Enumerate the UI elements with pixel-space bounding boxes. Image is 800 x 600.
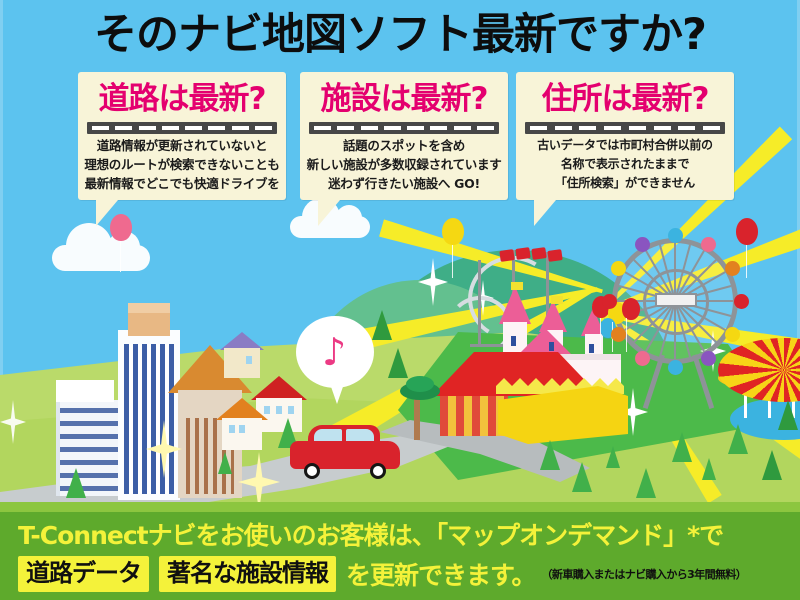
ferris-wheel-cabin xyxy=(668,360,683,375)
balloon-string xyxy=(626,318,627,352)
ferris-wheel-cabin xyxy=(611,327,626,342)
tree xyxy=(778,400,798,430)
music-speech-bubble-tail xyxy=(328,378,346,404)
tree xyxy=(762,450,782,480)
card-body-line: 迷わず行きたい施設へ GO! xyxy=(304,174,504,193)
tree xyxy=(218,452,232,474)
balloon-string xyxy=(452,242,453,278)
card-body-line: 古いデータでは市町村合併以前の xyxy=(520,136,730,155)
circus-tent-base xyxy=(440,396,508,436)
ferris-wheel-cabin xyxy=(734,294,749,309)
tree xyxy=(372,310,392,340)
coaster-train-car xyxy=(499,249,514,262)
info-card-road: 道路は最新? 道路情報が更新されていないと 理想のルートが検索できないことも 最… xyxy=(78,72,286,200)
promo-poster: ♪ xyxy=(0,0,800,600)
tree xyxy=(572,462,592,492)
balloon-string xyxy=(120,238,121,272)
info-card-address: 住所は最新? 古いデータでは市町村合併以前の 名称で表示されたままで 「住所検索… xyxy=(516,72,734,200)
tree xyxy=(388,348,408,378)
chip-facility-info: 著名な施設情報 xyxy=(159,556,336,592)
ferris-wheel-cabin xyxy=(701,237,716,252)
chip-road-data: 道路データ xyxy=(18,556,149,592)
bottom-banner: T-Connectナビをお使いのお客様は、「マップオンデマンド」*で 道路データ… xyxy=(0,512,800,600)
tree xyxy=(702,458,716,480)
balloon-string xyxy=(746,244,747,278)
red-car xyxy=(290,425,400,477)
page-title: そのナビ地図ソフト最新ですか? xyxy=(0,8,800,62)
card-body: 話題のスポットを含め 新しい施設が多数収録されています 迷わず行きたい施設へ G… xyxy=(304,136,504,193)
card-body-line: 「住所検索」ができません xyxy=(520,174,730,193)
info-card-tail xyxy=(534,200,556,226)
card-body-line: 名称で表示されたままで xyxy=(520,155,730,174)
info-card-tail xyxy=(96,200,118,226)
ferris-wheel-cabin xyxy=(635,237,650,252)
banner-footnote: （新車購入またはナビ購入から3年間無料） xyxy=(542,566,747,582)
card-body-line: 最新情報でどこでも快適ドライブを xyxy=(82,174,282,193)
ferris-wheel-cabin xyxy=(611,261,626,276)
banner-line-1: T-Connectナビをお使いのお客様は、「マップオンデマンド」*で xyxy=(18,520,723,552)
card-body-line: 話題のスポットを含め xyxy=(304,136,504,155)
ferris-wheel-hub xyxy=(655,293,697,307)
tree xyxy=(636,468,656,498)
tree xyxy=(728,424,748,454)
card-body: 古いデータでは市町村合併以前の 名称で表示されたままで 「住所検索」ができません xyxy=(520,136,730,193)
road-divider-graphic xyxy=(87,122,277,134)
balloon-string xyxy=(600,318,601,350)
card-body: 道路情報が更新されていないと 理想のルートが検索できないことも 最新情報でどこで… xyxy=(82,136,282,193)
banner-line-2-row: 道路データ 著名な施設情報 を更新できます。 （新車購入またはナビ購入から3年間… xyxy=(18,556,746,592)
tree xyxy=(66,468,86,498)
coaster-train-car xyxy=(515,247,530,260)
info-card-tail xyxy=(318,200,340,226)
cloud xyxy=(52,245,150,271)
road-divider-graphic xyxy=(525,122,725,134)
info-card-facility: 施設は最新? 話題のスポットを含め 新しい施設が多数収録されています 迷わず行き… xyxy=(300,72,508,200)
ferris-wheel-cabin xyxy=(602,294,617,309)
high-rise-cap xyxy=(128,310,170,336)
ferris-wheel-cabin xyxy=(668,228,683,243)
tree xyxy=(540,440,560,470)
coaster-train-car xyxy=(531,247,546,260)
tree xyxy=(672,432,692,462)
road-divider-graphic xyxy=(309,122,499,134)
balloon xyxy=(442,218,464,245)
card-title: 道路は最新? xyxy=(78,80,286,118)
coaster-train-car xyxy=(547,249,562,262)
banner-line-2: を更新できます。 xyxy=(346,556,536,592)
music-note-icon: ♪ xyxy=(322,334,352,370)
balloon xyxy=(622,298,640,320)
card-title: 住所は最新? xyxy=(516,80,734,118)
card-title: 施設は最新? xyxy=(300,80,508,118)
card-body-line: 道路情報が更新されていないと xyxy=(82,136,282,155)
card-body-line: 理想のルートが検索できないことも xyxy=(82,155,282,174)
tree xyxy=(606,446,620,468)
balloon xyxy=(736,218,758,245)
card-body-line: 新しい施設が多数収録されています xyxy=(304,155,504,174)
high-rise-cap-top xyxy=(128,303,170,313)
office-tower-roof xyxy=(56,380,114,402)
